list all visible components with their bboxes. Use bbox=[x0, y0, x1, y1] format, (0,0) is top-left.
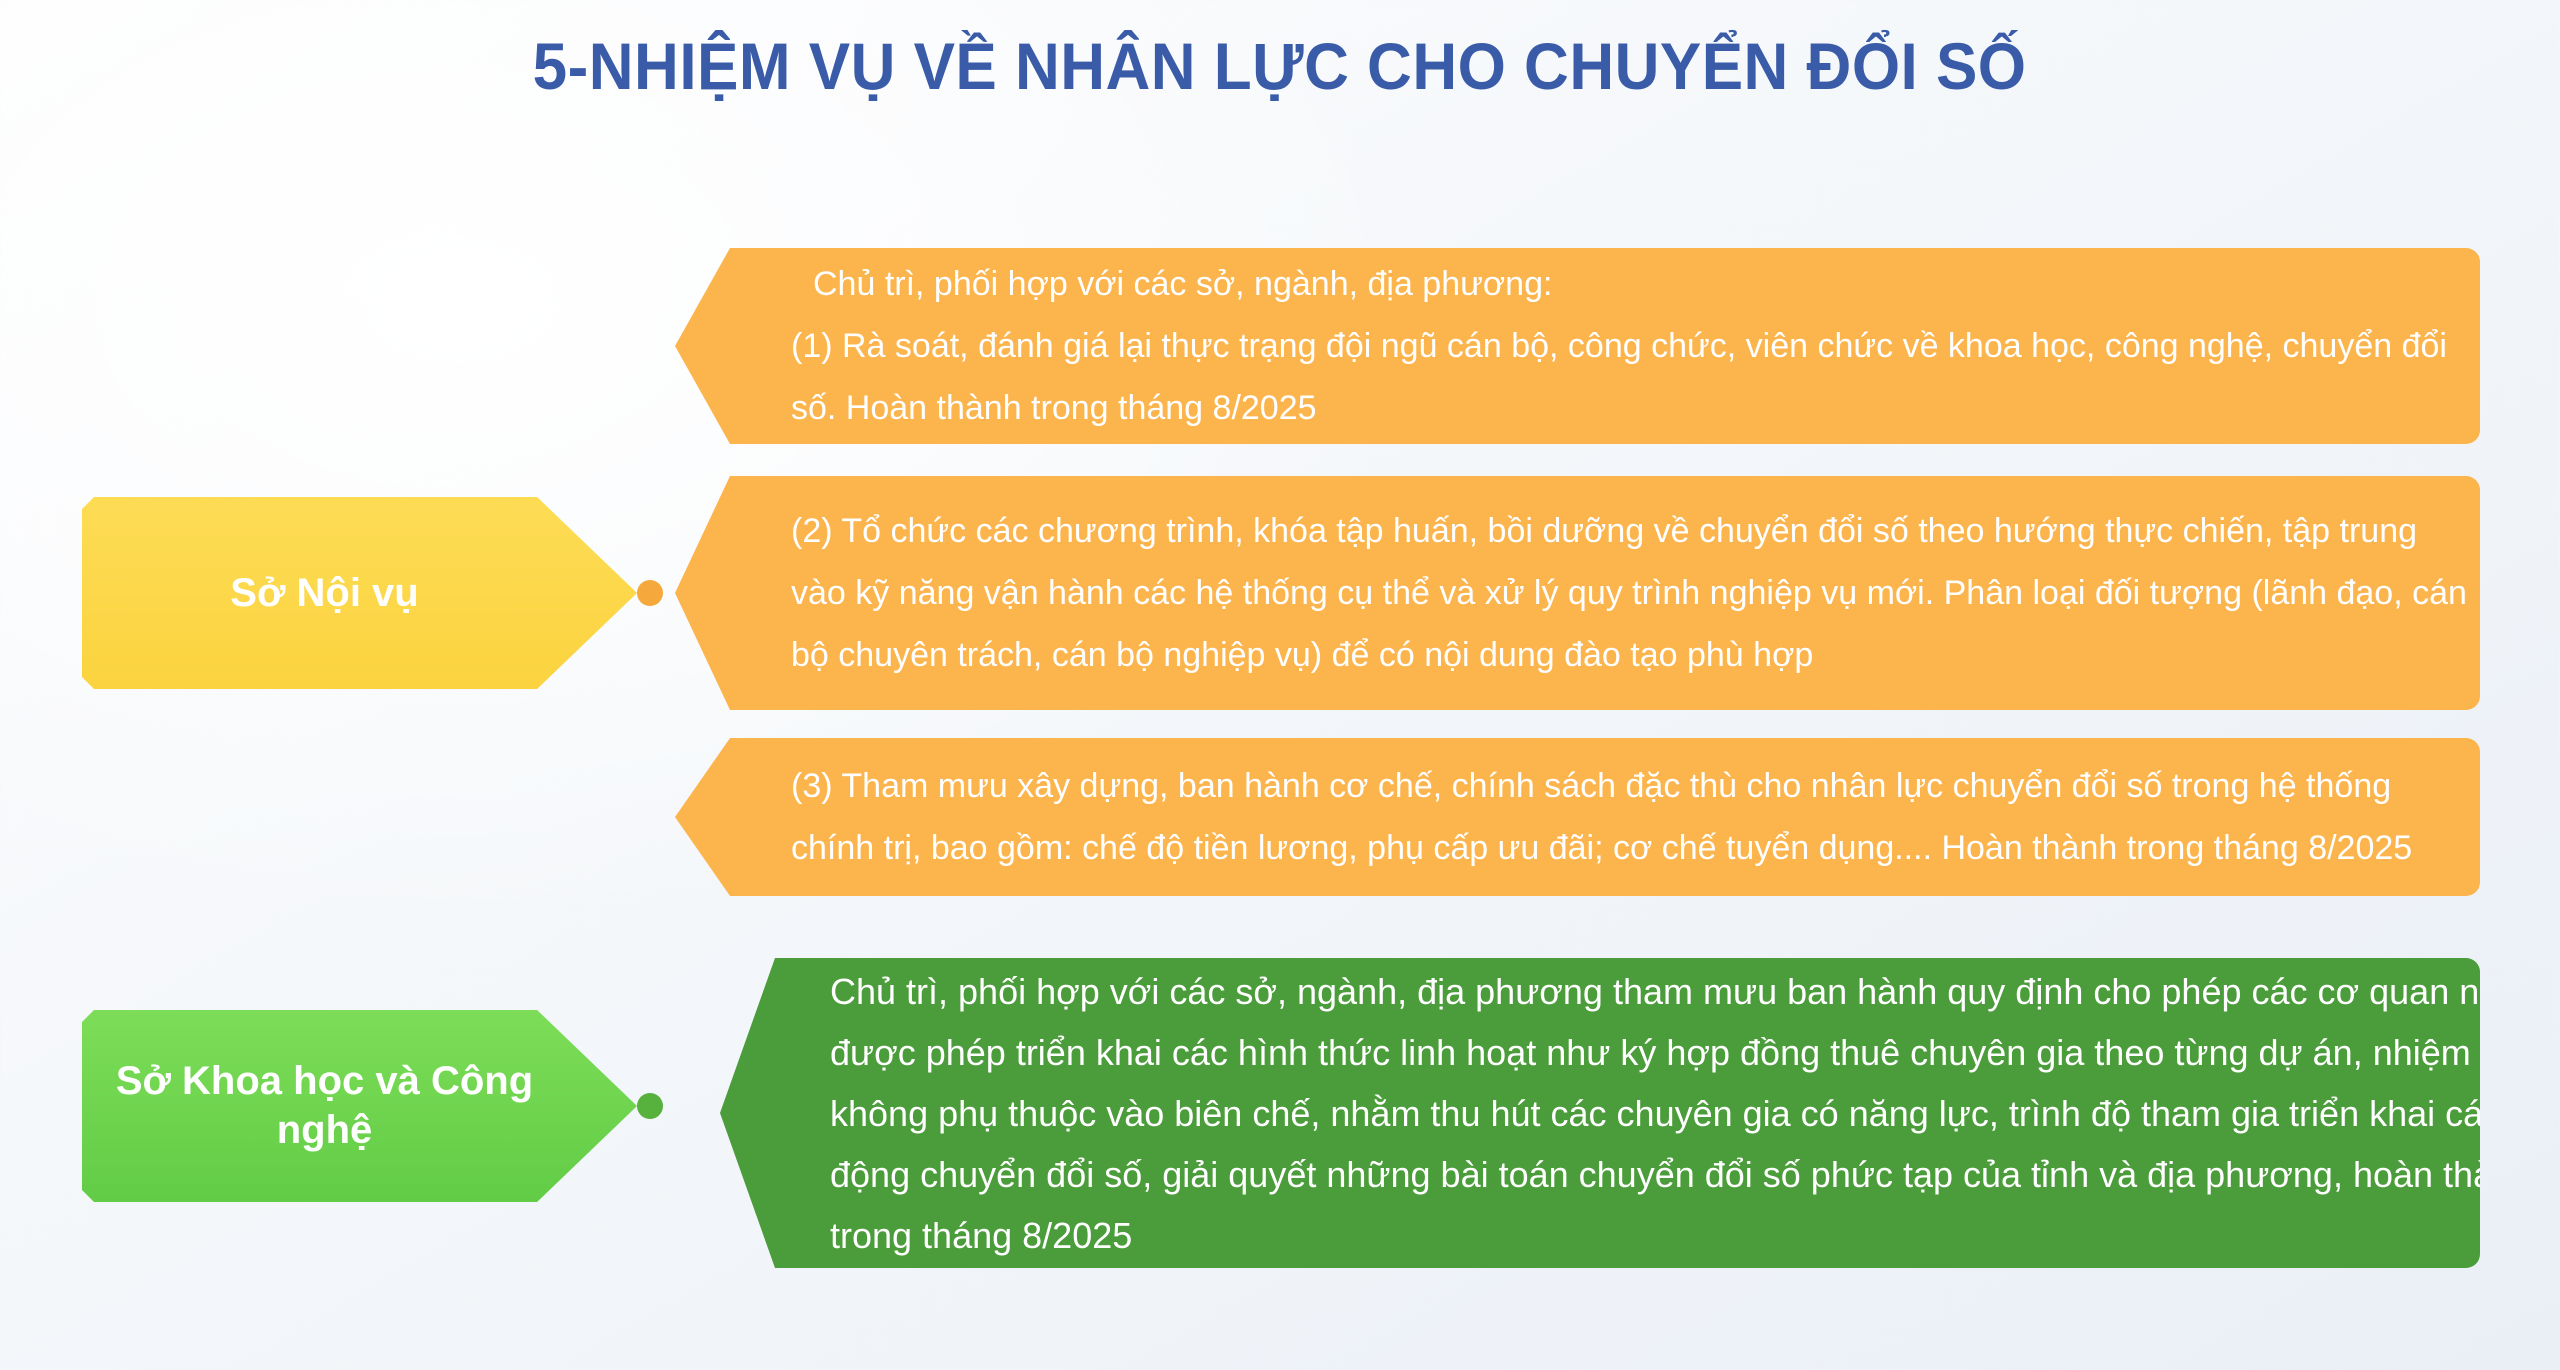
card-text-line: Chủ trì, phối hợp với các sở, ngành, địa… bbox=[791, 253, 2480, 315]
connector-dot-icon-green bbox=[637, 1093, 663, 1119]
card-text-line: (3) Tham mưu xây dựng, ban hành cơ chế, … bbox=[791, 755, 2480, 817]
connector-dot-icon-orange bbox=[637, 580, 663, 606]
card-text-line: động chuyển đổi số, giải quyết những bài… bbox=[830, 1144, 2480, 1205]
group-tab-label: Sở Khoa học và Công nghệ bbox=[82, 1057, 567, 1155]
card-text-line: (2) Tổ chức các chương trình, khóa tập h… bbox=[791, 500, 2480, 562]
card-text-line: được phép triển khai các hình thức linh … bbox=[830, 1022, 2480, 1083]
card-text-line: vào kỹ năng vận hành các hệ thống cụ thể… bbox=[791, 562, 2480, 624]
group-tab-label: Sở Nội vụ bbox=[82, 569, 567, 618]
content-card-2-inner: (2) Tổ chức các chương trình, khóa tập h… bbox=[791, 476, 2480, 710]
page-title: 5-NHIỆM VỤ VỀ NHÂN LỰC CHO CHUYỂN ĐỔI SỐ bbox=[533, 28, 2027, 104]
card-text-line: Chủ trì, phối hợp với các sở, ngành, địa… bbox=[830, 961, 2480, 1022]
card-text-line: số. Hoàn thành trong tháng 8/2025 bbox=[791, 377, 2480, 439]
content-card-2: (2) Tổ chức các chương trình, khóa tập h… bbox=[675, 476, 2480, 710]
card-text-line: không phụ thuộc vào biên chế, nhằm thu h… bbox=[830, 1083, 2480, 1144]
content-card-1-inner: Chủ trì, phối hợp với các sở, ngành, địa… bbox=[791, 248, 2480, 444]
group-tab-so-noi-vu[interactable]: Sở Nội vụ bbox=[82, 497, 637, 689]
content-card-4: Chủ trì, phối hợp với các sở, ngành, địa… bbox=[720, 958, 2480, 1268]
card-text-line: bộ chuyên trách, cán bộ nghiệp vụ) để có… bbox=[791, 624, 2480, 686]
content-card-4-inner: Chủ trì, phối hợp với các sở, ngành, địa… bbox=[830, 958, 2480, 1268]
content-card-3-inner: (3) Tham mưu xây dựng, ban hành cơ chế, … bbox=[791, 738, 2480, 896]
page-title-container: 5-NHIỆM VỤ VỀ NHÂN LỰC CHO CHUYỂN ĐỔI SỐ bbox=[0, 28, 2560, 104]
card-text-line: chính trị, bao gồm: chế độ tiền lương, p… bbox=[791, 817, 2480, 879]
card-text-line: trong tháng 8/2025 bbox=[830, 1205, 2480, 1266]
card-text-line: (1) Rà soát, đánh giá lại thực trạng đội… bbox=[791, 315, 2480, 377]
content-card-3: (3) Tham mưu xây dựng, ban hành cơ chế, … bbox=[675, 738, 2480, 896]
content-card-1: Chủ trì, phối hợp với các sở, ngành, địa… bbox=[675, 248, 2480, 444]
group-tab-so-khoa-hoc-va-cong-nghe[interactable]: Sở Khoa học và Công nghệ bbox=[82, 1010, 637, 1202]
